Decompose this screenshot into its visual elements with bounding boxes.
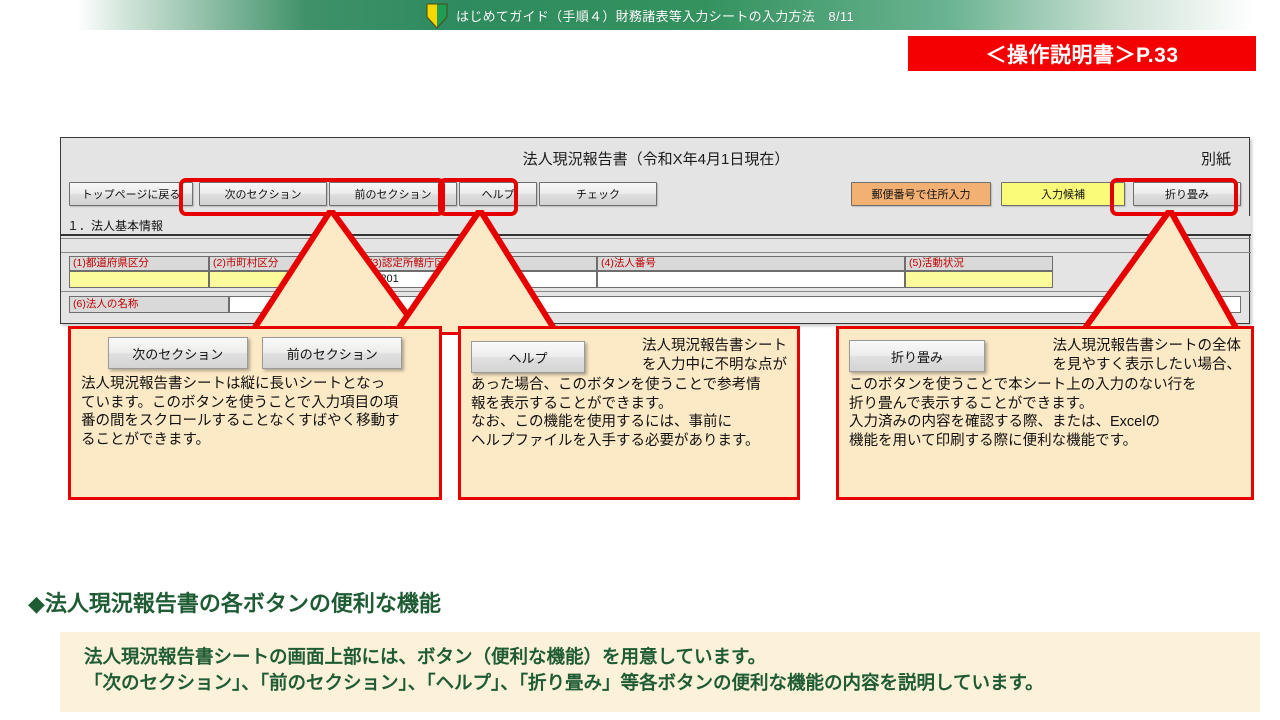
callout-button-next-section[interactable]: 次のセクション xyxy=(108,337,248,369)
summary-box: 法人現況報告書シートの画面上部には、ボタン（便利な機能）を用意しています。 「次… xyxy=(60,632,1260,712)
toolbar-button-check[interactable]: チェック xyxy=(539,182,657,206)
callout-fold-lead: 法人現況報告書シートの全体 を見やすく表示したい場合、 xyxy=(995,337,1241,374)
slide-canvas: はじめてガイド（手順４）財務諸表等入力シートの入力方法 8/11 ＜操作説明書＞… xyxy=(0,0,1280,720)
callout-fold-text: このボタンを使うことで本シート上の入力のない行を 折り畳んで表示することができま… xyxy=(849,376,1241,450)
title-banner: はじめてガイド（手順４）財務諸表等入力シートの入力方法 8/11 xyxy=(0,0,1280,30)
toolbar-button-fold[interactable]: 折り畳み xyxy=(1133,182,1241,206)
toolbar-button-help[interactable]: ヘルプ xyxy=(459,182,537,206)
sheet-grid: (1)都道府県区分 (2)市町村区分 (3)認定所轄庁区分 (4)法人番号 (5… xyxy=(61,238,1251,325)
grid-divider xyxy=(61,291,1251,292)
callout-button-help[interactable]: ヘルプ xyxy=(471,341,585,373)
toolbar-button-input-candidate[interactable]: 入力候補 xyxy=(1001,182,1125,206)
field-label-authority: (3)認定所轄庁区分 xyxy=(365,256,597,271)
field-label-corp-name: (6)法人の名称 xyxy=(69,296,229,313)
summary-line-2: 「次のセクション」、「前のセクション」、「ヘルプ」、「折り畳み」等各ボタンの便利… xyxy=(84,670,1260,696)
manual-page-badge-label: ＜操作説明書＞P.33 xyxy=(986,39,1179,69)
callout-help-lead: 法人現況報告書シート を入力中に不明な点が xyxy=(593,337,787,374)
toolbar-button-top-page[interactable]: トップページに戻る xyxy=(69,182,193,206)
field-input-activity[interactable] xyxy=(905,271,1053,288)
toolbar-button-next-section[interactable]: 次のセクション xyxy=(199,182,327,206)
sheet-title: 法人現況報告書（令和X年4月1日現在） xyxy=(61,148,1251,169)
field-input-authority[interactable]: 11201 xyxy=(365,271,597,288)
manual-page-badge: ＜操作説明書＞P.33 xyxy=(908,36,1256,71)
sheet-section-label: １．法人基本情報 xyxy=(61,217,163,234)
sheet-section-header: １．法人基本情報 xyxy=(61,216,1251,236)
field-label-activity: (5)活動状況 xyxy=(905,256,1053,271)
callout-help: ヘルプ 法人現況報告書シート を入力中に不明な点が あった場合、このボタンを使う… xyxy=(458,326,800,500)
grid-divider xyxy=(61,252,1251,253)
field-input-pref[interactable] xyxy=(69,271,209,288)
callout-section-nav: 次のセクション 前のセクション 法人現況報告書シートは縦に長いシートとなっ てい… xyxy=(68,326,442,500)
excel-sheet-panel: 法人現況報告書（令和X年4月1日現在） 別紙 トップページに戻る 次のセクション… xyxy=(60,137,1250,324)
sheet-subtitle: 別紙 xyxy=(1201,148,1231,169)
grid-divider xyxy=(61,238,1251,239)
field-label-corp-number: (4)法人番号 xyxy=(597,256,905,271)
banner-title: はじめてガイド（手順４）財務諸表等入力シートの入力方法 8/11 xyxy=(456,6,854,25)
callout-section-nav-text: 法人現況報告書シートは縦に長いシートとなっ ています。このボタンを使うことで入力… xyxy=(81,375,429,449)
field-label-pref: (1)都道府県区分 xyxy=(69,256,209,271)
field-input-city[interactable] xyxy=(209,271,357,288)
field-input-corp-number[interactable] xyxy=(597,271,905,288)
summary-line-1: 法人現況報告書シートの画面上部には、ボタン（便利な機能）を用意しています。 xyxy=(84,644,1260,670)
toolbar-button-prev-section[interactable]: 前のセクション xyxy=(329,182,457,206)
callout-help-text: あった場合、このボタンを使うことで参考情 報を表示することができます。 なお、こ… xyxy=(471,376,787,450)
field-input-corp-name[interactable] xyxy=(229,296,1241,313)
sheet-toolbar: トップページに戻る 次のセクション 前のセクション ヘルプ チェック 郵便番号で… xyxy=(61,182,1251,208)
callout-button-prev-section[interactable]: 前のセクション xyxy=(262,337,402,369)
section-heading: ◆法人現況報告書の各ボタンの便利な機能 xyxy=(28,586,441,618)
field-label-city: (2)市町村区分 xyxy=(209,256,357,271)
toolbar-button-postal-address[interactable]: 郵便番号で住所入力 xyxy=(851,182,991,206)
callout-fold: 折り畳み 法人現況報告書シートの全体 を見やすく表示したい場合、 このボタンを使… xyxy=(836,326,1254,500)
callout-button-fold[interactable]: 折り畳み xyxy=(849,340,985,372)
beginner-leaf-icon xyxy=(426,3,448,29)
